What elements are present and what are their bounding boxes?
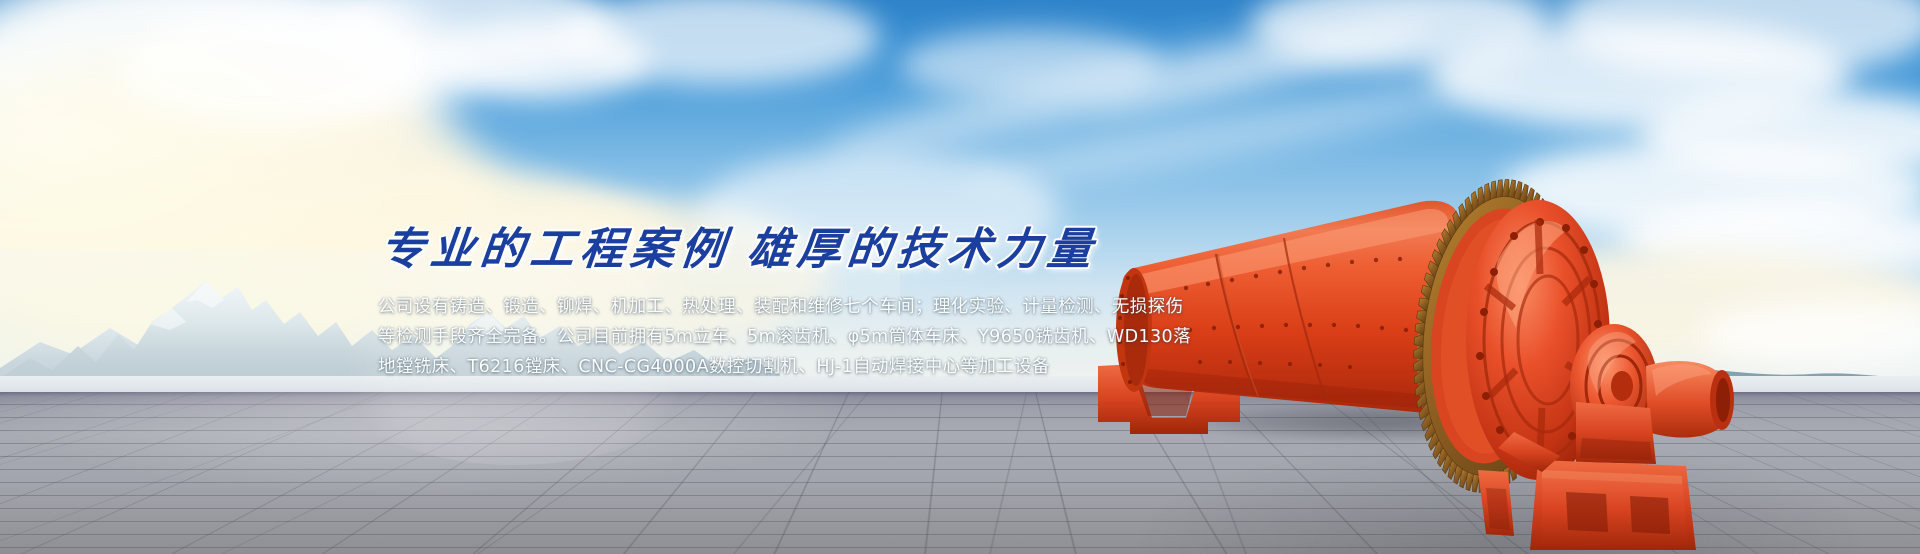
company-capability-banner: 专业的工程案例 雄厚的技术力量 公司设有铸造、锻造、铆焊、机加工、热处理、装配和… <box>0 0 1920 554</box>
gearbox-housing <box>1576 402 1656 464</box>
description-line-3: 地镗铣床、T6216镗床、CNC-CG4000A数控切割机、HJ-1自动焊接中心… <box>378 352 1378 382</box>
banner-description: 公司设有铸造、锻造、铆焊、机加工、热处理、装配和维修七个车间；理化实验、计量检测… <box>378 292 1378 382</box>
discharge-cone <box>1646 361 1734 438</box>
gear-support-leg <box>1478 470 1514 536</box>
page-title: 专业的工程案例 雄厚的技术力量 <box>378 228 1383 272</box>
banner-copy: 专业的工程案例 雄厚的技术力量 公司设有铸造、锻造、铆焊、机加工、热处理、装配和… <box>378 228 1378 382</box>
description-line-2: 等检测手段齐全完备。公司目前拥有5m立车、5m滚齿机、φ5m筒体车床、Y9650… <box>378 322 1378 352</box>
description-line-1: 公司设有铸造、锻造、铆焊、机加工、热处理、装配和维修七个车间；理化实验、计量检测… <box>378 292 1378 322</box>
